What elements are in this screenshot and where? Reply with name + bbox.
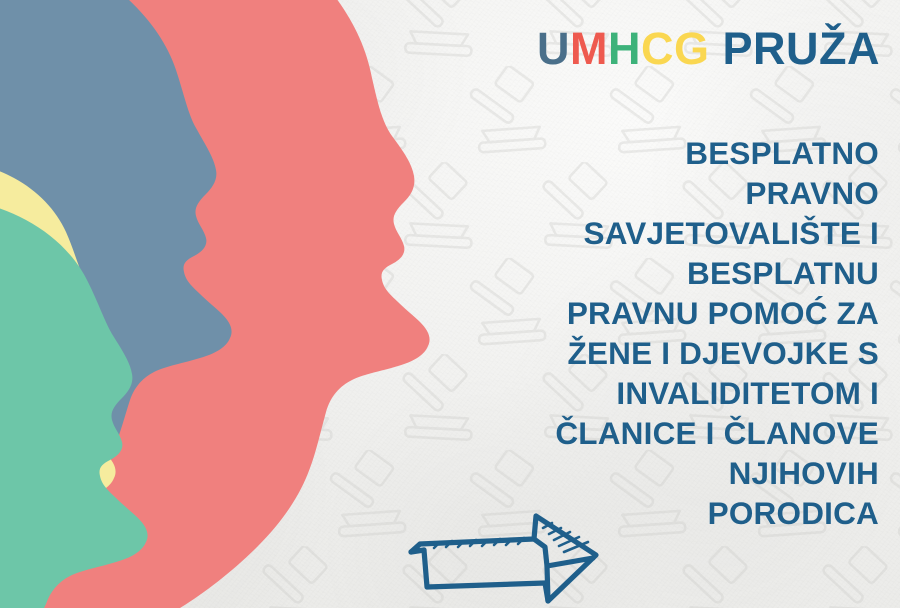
gavel-icon [658, 543, 783, 608]
logo-letter-h: H [608, 23, 641, 74]
poster-canvas: UMHCG PRUŽA BESPLATNO PRAVNO SAVJETOVALI… [0, 0, 900, 608]
message-line: INVALIDITETOM I [359, 373, 879, 413]
headline-word: PRUŽA [723, 23, 881, 74]
message-line: ČLANICE I ČLANOVE [359, 413, 879, 453]
arrow-right-icon [404, 506, 604, 608]
logo-letter-g: G [674, 23, 710, 74]
logo-letter-c: C [641, 23, 674, 74]
logo-letter-u: U [537, 23, 570, 74]
message-block: BESPLATNO PRAVNO SAVJETOVALIŠTE I BESPLA… [359, 133, 879, 533]
logo-letter-m: M [570, 23, 608, 74]
gavel-icon [798, 543, 900, 608]
message-line: BESPLATNO [359, 133, 879, 173]
message-line: SAVJETOVALIŠTE I [359, 213, 879, 253]
message-line: NJIHOVIH [359, 453, 879, 493]
message-line: ŽENE I DJEVOJKE S [359, 333, 879, 373]
message-line: PRAVNU POMOĆ ZA [359, 293, 879, 333]
message-line: PRAVNO [359, 173, 879, 213]
headline-word-pruza [709, 23, 722, 74]
headline: UMHCG PRUŽA [537, 26, 880, 71]
message-line: BESPLATNU [359, 253, 879, 293]
